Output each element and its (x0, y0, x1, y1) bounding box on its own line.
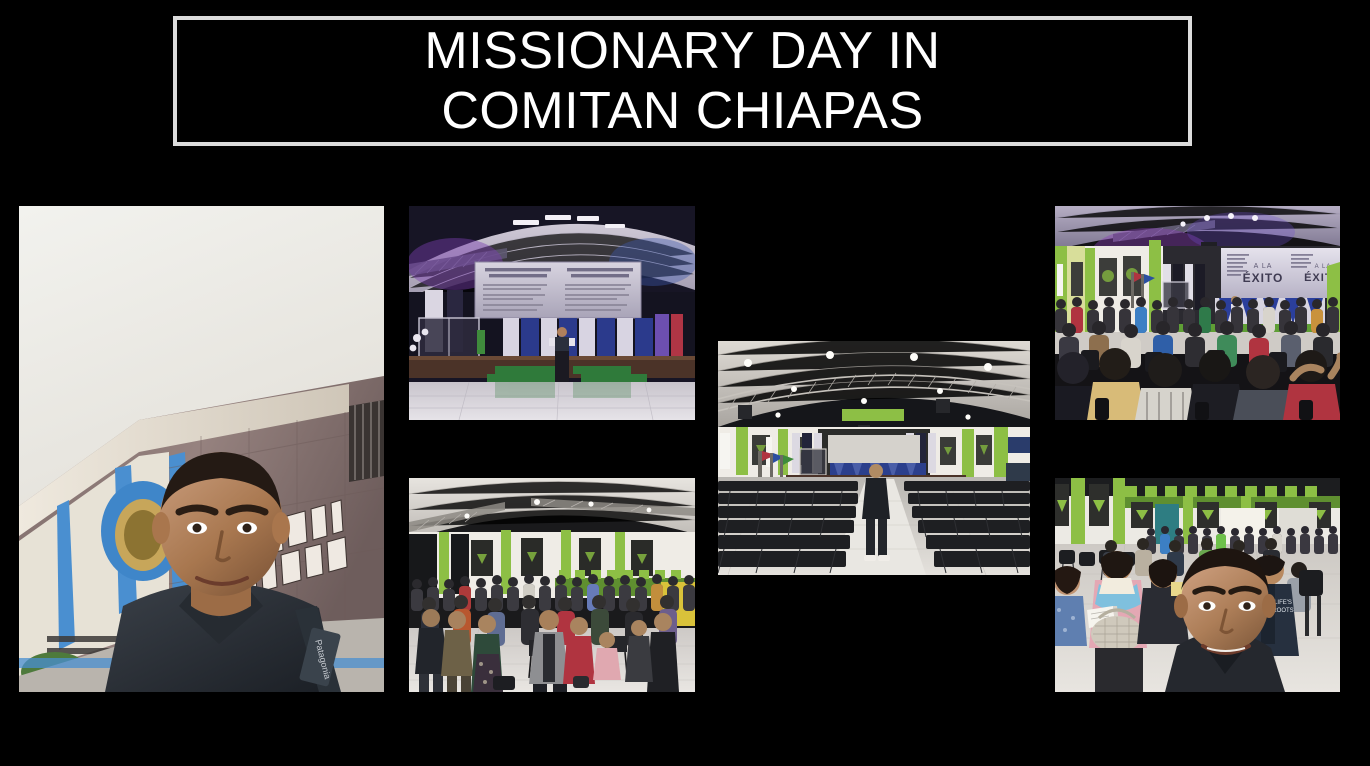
page-title-line-2: COMITAN CHIAPAS (441, 81, 923, 141)
photo-selfie-crowd-image: LIFE'S ROOTS (1055, 478, 1340, 692)
photo-crowd-standing (409, 478, 695, 692)
photo-crowd-standing-image (409, 478, 695, 692)
slide-canvas: MISSIONARY DAY IN COMITAN CHIAPAS (0, 0, 1370, 766)
svg-text:LIFE'S: LIFE'S (1274, 600, 1292, 606)
page-title-line-1: MISSIONARY DAY IN (424, 21, 940, 81)
photo-church-image: Patagonia (19, 206, 384, 692)
photo-full-audience: A LA ÉXITO A LA ÉXITO (1055, 206, 1340, 420)
photo-empty-hall-image (718, 341, 1030, 575)
svg-text:ÉXITO: ÉXITO (1243, 270, 1284, 285)
svg-text:A LA: A LA (1254, 263, 1273, 270)
photo-stage-screen-image (409, 206, 695, 420)
slide-title-box: MISSIONARY DAY IN COMITAN CHIAPAS (173, 16, 1192, 146)
photo-full-audience-image: A LA ÉXITO A LA ÉXITO (1055, 206, 1340, 420)
photo-selfie-crowd: LIFE'S ROOTS (1055, 478, 1340, 692)
photo-stage-screen (409, 206, 695, 420)
photo-church: Patagonia (19, 206, 384, 692)
photo-empty-hall (718, 341, 1030, 575)
